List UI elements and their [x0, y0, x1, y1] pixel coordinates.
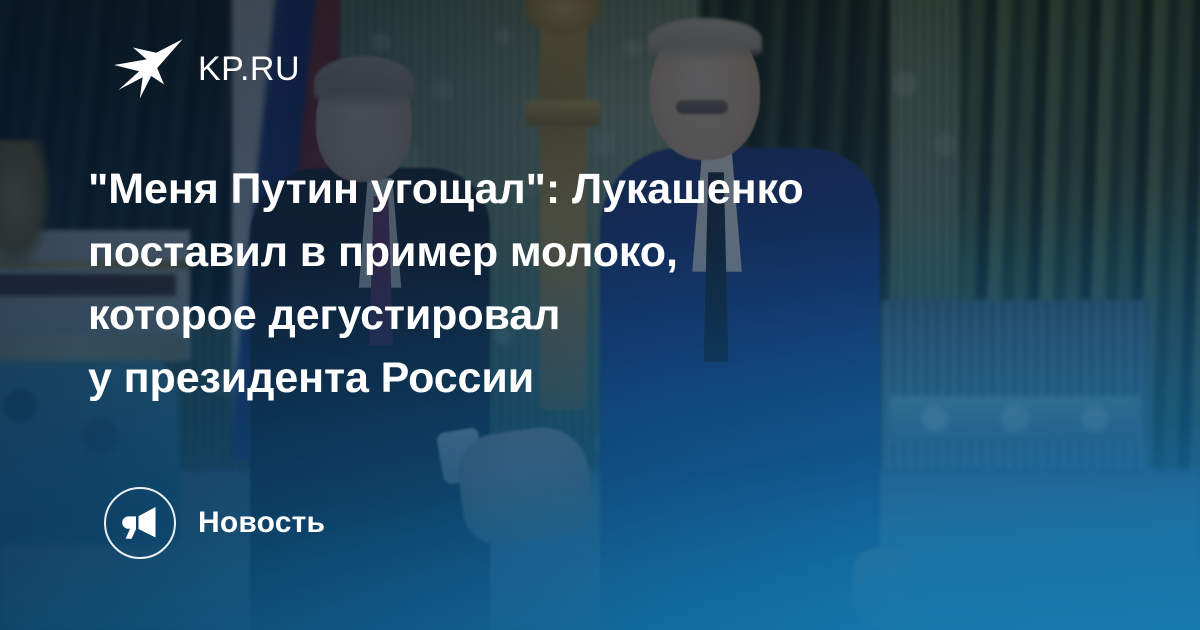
headline-line-2: поставил в пример молоко,: [88, 221, 1098, 284]
badge-label: Новость: [198, 508, 325, 538]
brand-name: KP.RU: [198, 52, 300, 86]
news-share-card: KP.RU "Меня Путин угощал": Лукашенко пос…: [0, 0, 1200, 630]
headline-line-1: "Меня Путин угощал": Лукашенко: [88, 158, 1098, 221]
megaphone-icon: [121, 506, 159, 540]
badge-circle: [104, 487, 176, 559]
headline-line-3: которое дегустировал: [88, 284, 1098, 347]
page-title: "Меня Путин угощал": Лукашенко поставил …: [88, 158, 1098, 410]
card-content: KP.RU "Меня Путин угощал": Лукашенко пос…: [0, 0, 1200, 630]
status-badge: Новость: [104, 487, 325, 559]
swallow-bird-icon: [112, 38, 184, 100]
headline-line-4: у президента России: [88, 347, 1098, 410]
brand-logo[interactable]: KP.RU: [112, 38, 300, 100]
